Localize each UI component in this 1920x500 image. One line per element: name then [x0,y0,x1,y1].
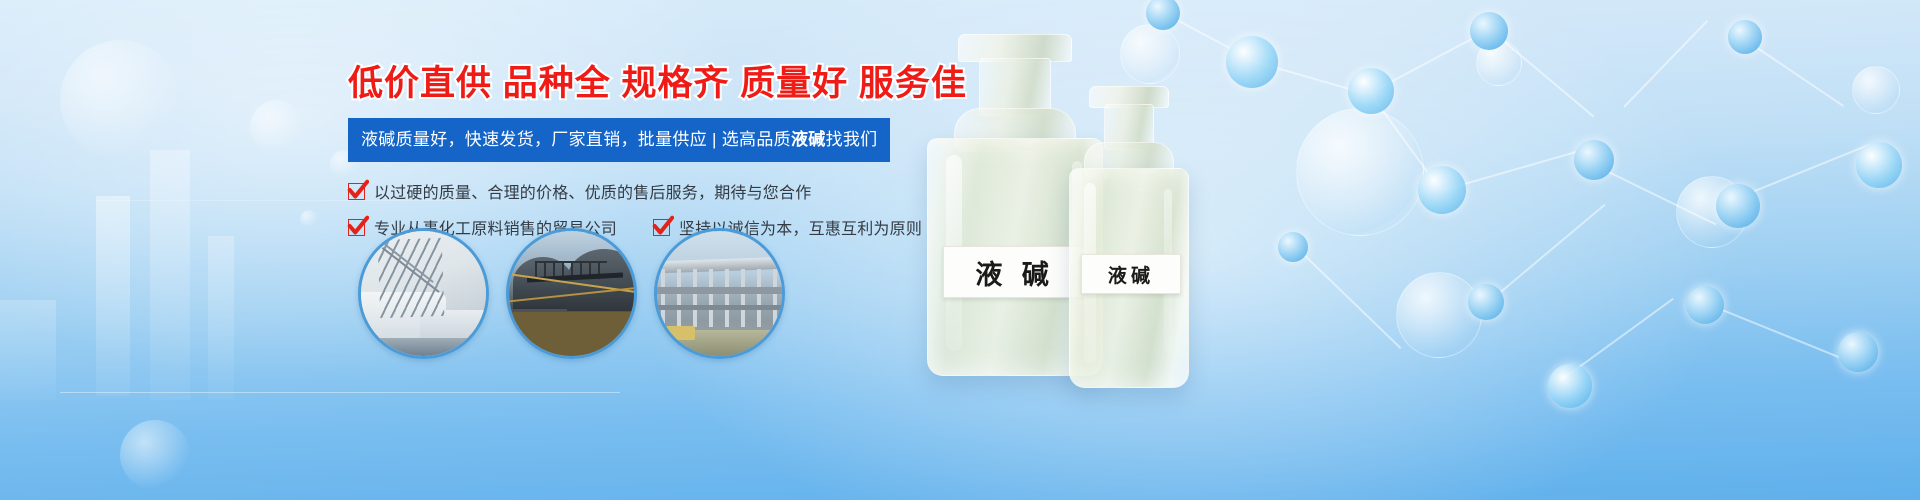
storage-tank-stairway-photo [358,228,489,359]
page-title: 低价直供 品种全 规格齐 质量好 服务佳 [348,62,908,106]
decor-bubble [1396,272,1482,358]
decor-molecule-node [1548,364,1592,408]
decor-molecule-node [1686,286,1724,324]
decor-molecule-bond [1700,300,1840,358]
photo-strip [358,228,785,359]
decor-molecule-node [1348,68,1394,114]
decor-bubble [1852,66,1900,114]
decor-bubble [60,40,180,160]
subtitle-text-before: 液碱质量好，快速发货，厂家直销，批量供应 | 选高品质 [361,130,791,149]
decor-molecule-bond [1252,60,1366,94]
small-reagent-bottle: 液碱 [1063,86,1195,386]
factory-shed-photo [654,228,785,359]
list-item-label: 以过硬的质量、合理的价格、优质的售后服务，期待与您合作 [374,179,811,203]
subtitle-text-after: 找我们 [826,130,878,149]
subtitle-emphasis: 液碱 [791,130,826,149]
bottle-label-text: 液碱 [1108,261,1154,288]
decor-molecule-bond [1489,204,1605,302]
product-bottles: 液 碱 液碱 [905,0,1235,500]
product-promo-banner: 低价直供 品种全 规格齐 质量好 服务佳 液碱质量好，快速发货，厂家直销，批量供… [0,0,1920,500]
decor-vertical-bar [150,150,190,400]
decor-bubble [120,420,190,490]
decor-bubble [300,210,318,228]
decor-molecule-bond [1623,20,1708,108]
decor-bubble [250,100,304,154]
decor-molecule-bond [1559,298,1673,382]
decor-vertical-bar [208,236,234,400]
decor-molecule-node [1838,332,1878,372]
decor-bubble [1296,108,1424,236]
decor-molecule-node [1728,20,1762,54]
bullet-row: 以过硬的质量、合理的价格、优质的售后服务，期待与您合作 [348,179,908,203]
bottle-label-text: 液 碱 [975,253,1054,292]
decor-molecule-bond [1440,149,1585,192]
decor-molecule-node [1278,232,1308,262]
decor-molecule-node [1856,142,1902,188]
bottle-label: 液碱 [1081,254,1181,294]
decor-vertical-bar [0,300,56,400]
decor-horizontal-line [60,392,620,393]
decor-molecule-bond [1299,250,1401,349]
decor-bubble [1676,176,1748,248]
list-item: 以过硬的质量、合理的价格、优质的售后服务，期待与您合作 [348,179,811,203]
decor-molecule-node [1418,166,1466,214]
decor-vertical-bar [96,196,130,396]
decor-molecule-bond [1370,33,1482,94]
decor-molecule-bond [1493,32,1594,117]
decor-molecule-bond [1590,162,1717,225]
decor-molecule-node [1470,12,1508,50]
decor-molecule-node [1574,140,1614,180]
dark-tank-yard-photo [506,228,637,359]
decor-molecule-node [1716,184,1760,228]
subtitle-bar: 液碱质量好，快速发货，厂家直销，批量供应 | 选高品质液碱找我们 [348,118,890,162]
check-icon [348,183,365,200]
decor-molecule-bond [1743,38,1844,107]
decor-molecule-bond [1730,144,1870,202]
decor-molecule-bond [1369,92,1441,190]
copy-block: 低价直供 品种全 规格齐 质量好 服务佳 液碱质量好，快速发货，厂家直销，批量供… [348,62,908,251]
decor-molecule-node [1468,284,1504,320]
decor-bubble [1476,40,1522,86]
